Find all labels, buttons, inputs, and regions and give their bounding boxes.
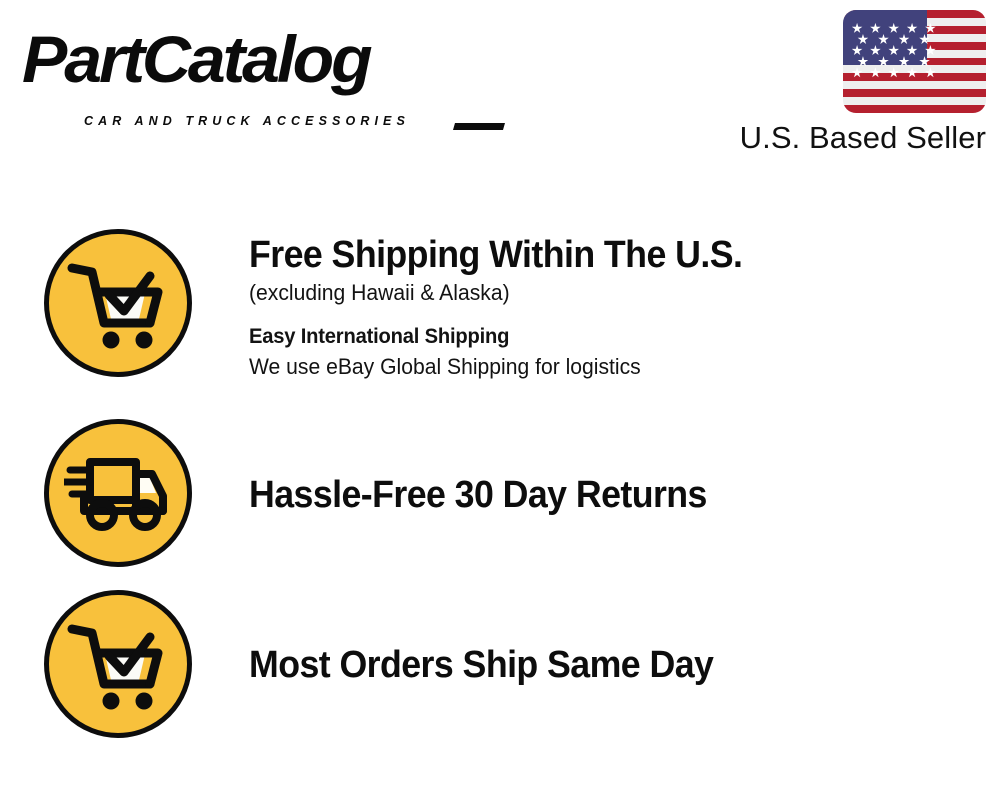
- star-icon: [899, 56, 910, 67]
- feature-row: Most Orders Ship Same Day: [0, 590, 1000, 760]
- shopping-cart-check-icon: [44, 229, 192, 377]
- brand-wordmark: PartCatalog: [22, 24, 370, 94]
- star-icon: [857, 56, 868, 67]
- star-icon: [899, 34, 910, 45]
- star-icon: [852, 67, 863, 78]
- seller-badge-label: U.S. Based Seller: [716, 120, 986, 156]
- spacer: [249, 308, 1000, 322]
- flag-star-row: [852, 67, 936, 78]
- star-icon: [907, 23, 918, 34]
- logo-swoosh-icon: [453, 123, 505, 130]
- shopping-cart-check-icon: [44, 590, 192, 738]
- feature-subdetail: We use eBay Global Shipping for logistic…: [249, 352, 970, 382]
- flag-stripe: [843, 105, 986, 113]
- star-icon: [925, 23, 936, 34]
- star-icon: [907, 45, 918, 56]
- flag-star-row: [852, 45, 936, 56]
- seller-badge: U.S. Based Seller: [716, 10, 986, 156]
- star-icon: [852, 23, 863, 34]
- star-icon: [888, 45, 899, 56]
- delivery-truck-icon: [44, 419, 192, 567]
- star-icon: [870, 45, 881, 56]
- brand-tagline: CAR AND TRUCK ACCESSORIES: [84, 114, 410, 128]
- star-icon: [925, 67, 936, 78]
- feature-heading: Most Orders Ship Same Day: [249, 642, 955, 688]
- feature-subheading: Easy International Shipping: [249, 322, 970, 352]
- seller-info-banner: PartCatalog CAR AND TRUCK ACCESSORIES: [0, 0, 1000, 800]
- star-icon: [907, 67, 918, 78]
- feature-subnote: (excluding Hawaii & Alaska): [249, 278, 970, 308]
- flag-stripe: [843, 97, 986, 105]
- feature-row: Hassle-Free 30 Day Returns: [0, 418, 1000, 590]
- feature-text-block: Most Orders Ship Same Day: [192, 590, 1000, 688]
- flag-star-row: [852, 56, 936, 67]
- star-icon: [878, 34, 889, 45]
- feature-list: Free Shipping Within The U.S. (excluding…: [0, 228, 1000, 760]
- flag-stripe: [843, 89, 986, 97]
- brand-logo[interactable]: PartCatalog CAR AND TRUCK ACCESSORIES: [22, 24, 492, 114]
- feature-heading: Hassle-Free 30 Day Returns: [249, 472, 955, 518]
- flag-stars: [843, 10, 945, 88]
- flag-star-row: [852, 34, 936, 45]
- feature-text-block: Hassle-Free 30 Day Returns: [192, 418, 1000, 518]
- star-icon: [919, 34, 930, 45]
- flag-star-row: [852, 23, 936, 34]
- star-icon: [919, 56, 930, 67]
- star-icon: [878, 56, 889, 67]
- feature-text-block: Free Shipping Within The U.S. (excluding…: [192, 228, 1000, 382]
- star-icon: [870, 23, 881, 34]
- star-icon: [925, 45, 936, 56]
- us-flag-icon: [843, 10, 986, 113]
- star-icon: [888, 23, 899, 34]
- feature-heading: Free Shipping Within The U.S.: [249, 232, 955, 278]
- star-icon: [888, 67, 899, 78]
- star-icon: [857, 34, 868, 45]
- feature-row: Free Shipping Within The U.S. (excluding…: [0, 228, 1000, 418]
- star-icon: [852, 45, 863, 56]
- star-icon: [870, 67, 881, 78]
